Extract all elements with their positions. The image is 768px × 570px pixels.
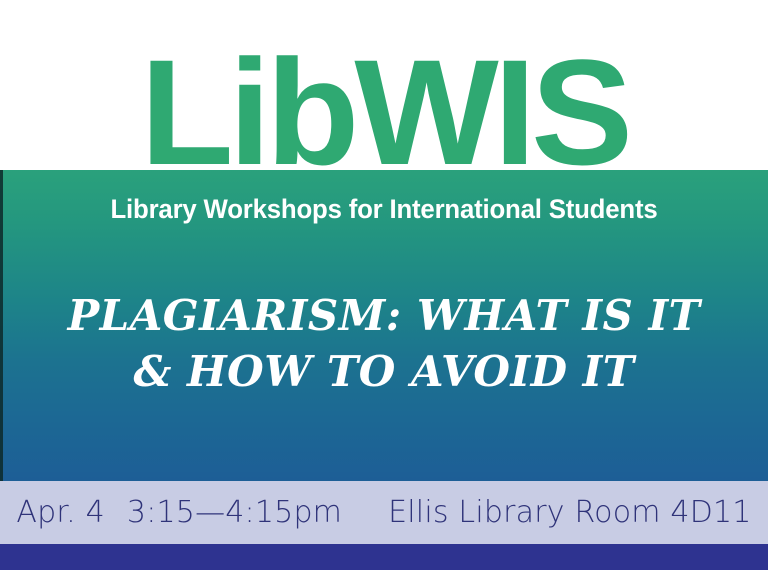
event-details-strip: Apr. 4 3:15—4:15pm Ellis Library Room 4D… xyxy=(0,481,768,544)
event-details-text: Apr. 4 3:15—4:15pm Ellis Library Room 4D… xyxy=(16,495,751,530)
event-location: Ellis Library Room 4D11 xyxy=(388,495,752,530)
event-date: Apr. 4 xyxy=(16,495,105,530)
event-headline: PLAGIARISM: WHAT IS IT & HOW TO AVOID IT xyxy=(0,288,768,400)
headline-line-2: & HOW TO AVOID IT xyxy=(0,344,768,400)
logo-wordmark: LibWIS xyxy=(140,48,628,175)
footer-accent-bar xyxy=(0,544,768,570)
poster-canvas: LibWIS Library Workshops for Internation… xyxy=(0,0,768,570)
brand-logo: LibWIS xyxy=(0,0,768,175)
brand-tagline: Library Workshops for International Stud… xyxy=(17,194,750,225)
headline-line-1: PLAGIARISM: WHAT IS IT xyxy=(0,288,768,344)
event-time: 3:15—4:15pm xyxy=(127,495,342,530)
